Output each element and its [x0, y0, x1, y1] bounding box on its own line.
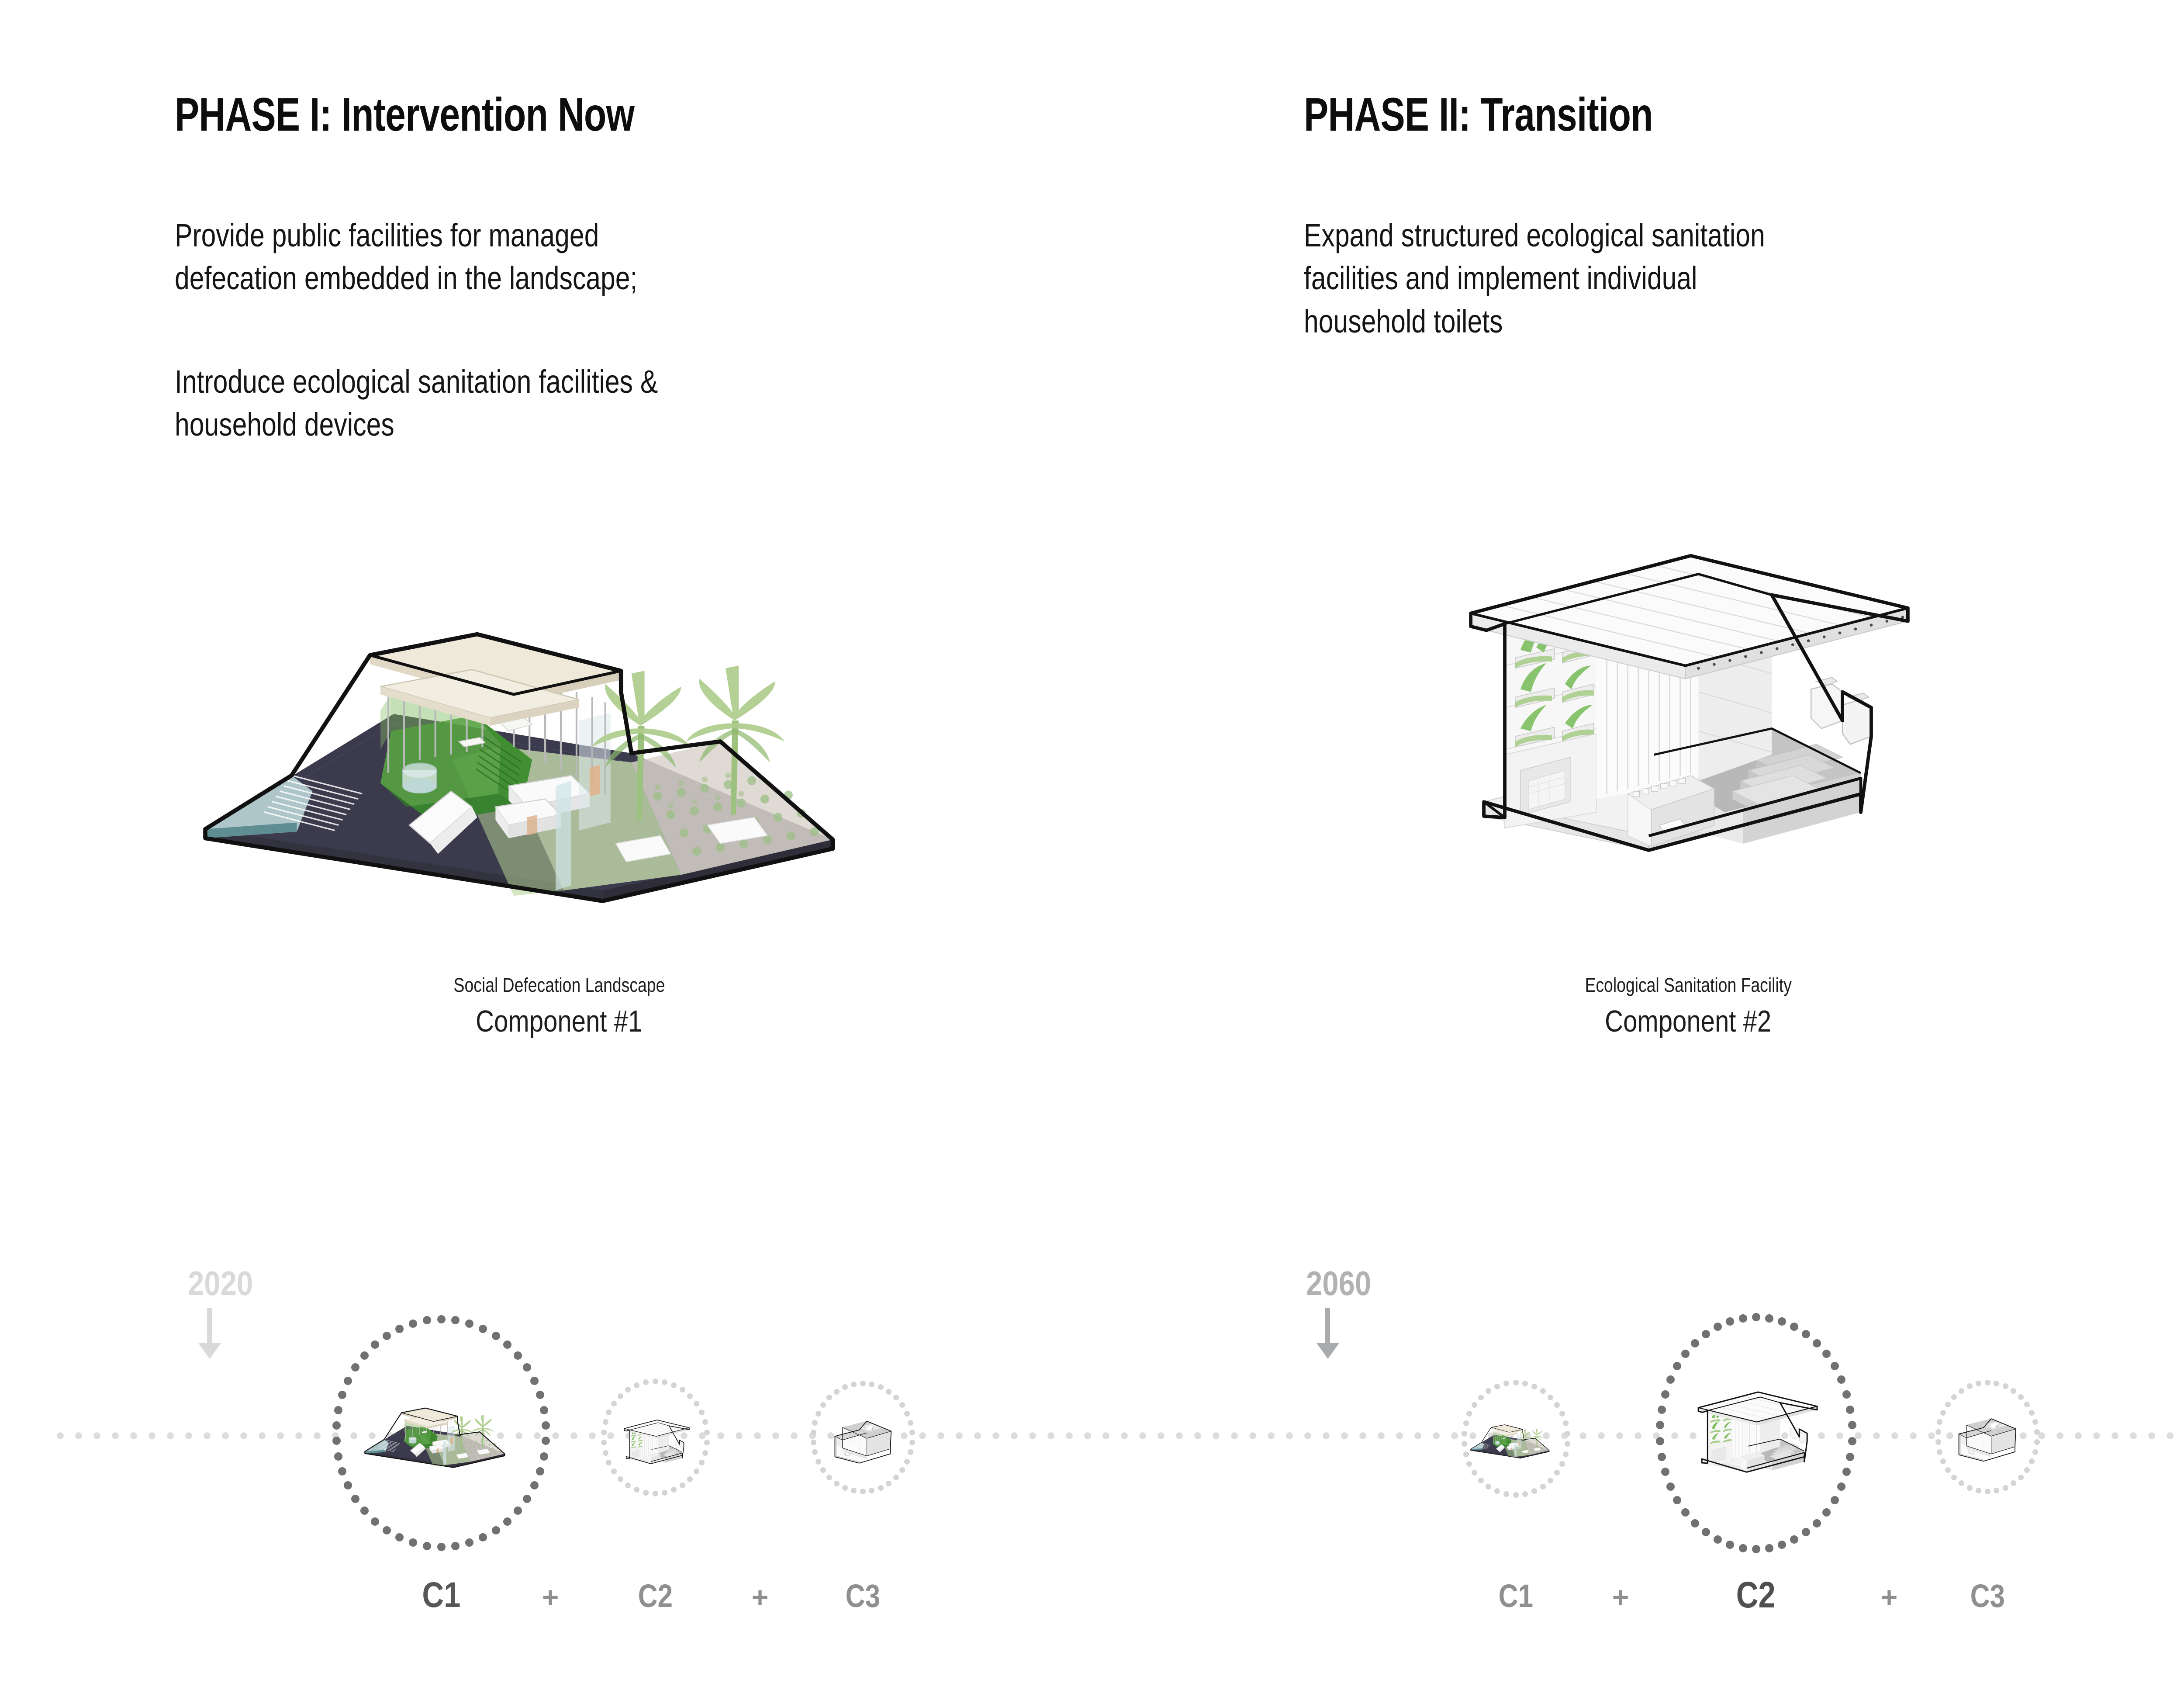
- caption-big-2: Component #2: [1304, 1002, 2073, 1041]
- timeline: 2020 C1 + C2 + C3: [0, 1258, 2184, 1704]
- timeline-node-2020-c2[interactable]: [601, 1378, 710, 1496]
- separator-plus-2060-1: +: [1594, 1583, 1647, 1611]
- phase-body-1b: Introduce ecological sanitation faciliti…: [175, 360, 1144, 447]
- component-label-2020-c1: C1: [376, 1577, 507, 1613]
- illustration-ecological-sanitation-facility: [1428, 498, 1944, 861]
- phase-column-1: PHASE I: Intervention Now Provide public…: [175, 0, 1179, 1136]
- icon-ecological-sanitation-facility-small: [1687, 1338, 1827, 1513]
- timeline-node-2060-c3[interactable]: [1935, 1380, 2040, 1494]
- separator-plus-2020-2: +: [734, 1583, 786, 1611]
- icon-social-defecation-landscape-small: [1466, 1414, 1565, 1463]
- timeline-group-2060: 2060: [1306, 1266, 1382, 1300]
- component-label-2060-c2: C2: [1690, 1576, 1821, 1613]
- timeline-group-2020: 2020: [188, 1266, 264, 1300]
- phase-title-1: PHASE I: Intervention Now: [175, 91, 764, 138]
- icon-household-sanitation-device-small: [829, 1408, 898, 1473]
- year-arrow-2060: [1317, 1308, 1339, 1359]
- component-label-2020-c2: C2: [592, 1580, 719, 1612]
- separator-plus-2060-2: +: [1863, 1583, 1915, 1611]
- phase-body-1a: Provide public facilities for managed de…: [175, 214, 1144, 300]
- phase-title-2: PHASE II: Transition: [1304, 91, 1751, 138]
- timeline-node-2060-c1[interactable]: [1461, 1380, 1570, 1498]
- year-label-2020: 2020: [188, 1266, 264, 1300]
- timeline-node-2020-c1[interactable]: [332, 1315, 550, 1551]
- year-arrow-2020: [198, 1308, 221, 1359]
- year-label-2060: 2060: [1306, 1266, 1382, 1300]
- caption-small-2: Ecological Sanitation Facility: [1304, 974, 2073, 996]
- illustration-social-defecation-landscape: [170, 564, 957, 922]
- component-label-2020-c3: C3: [799, 1580, 926, 1612]
- caption-big-1: Component #1: [175, 1002, 943, 1041]
- component-label-2060-c3: C3: [1924, 1580, 2051, 1612]
- phase-body-2a: Expand structured ecological sanitation …: [1304, 214, 2184, 343]
- caption-small-1: Social Defecation Landscape: [175, 974, 943, 996]
- icon-household-sanitation-device-small: [1952, 1405, 2023, 1472]
- separator-plus-2020-1: +: [524, 1583, 577, 1611]
- caption-block-1: Social Defecation Landscape Component #1: [175, 974, 943, 1040]
- component-label-2060-c1: C1: [1452, 1580, 1579, 1612]
- icon-social-defecation-landscape-small: [357, 1389, 532, 1476]
- icon-ecological-sanitation-facility-small: [618, 1392, 695, 1484]
- caption-block-2: Ecological Sanitation Facility Component…: [1304, 974, 2073, 1040]
- phase-column-2: PHASE II: Transition Expand structured e…: [1304, 0, 2184, 1136]
- timeline-node-2020-c3[interactable]: [810, 1381, 915, 1494]
- timeline-node-2060-c2[interactable]: [1655, 1313, 1856, 1553]
